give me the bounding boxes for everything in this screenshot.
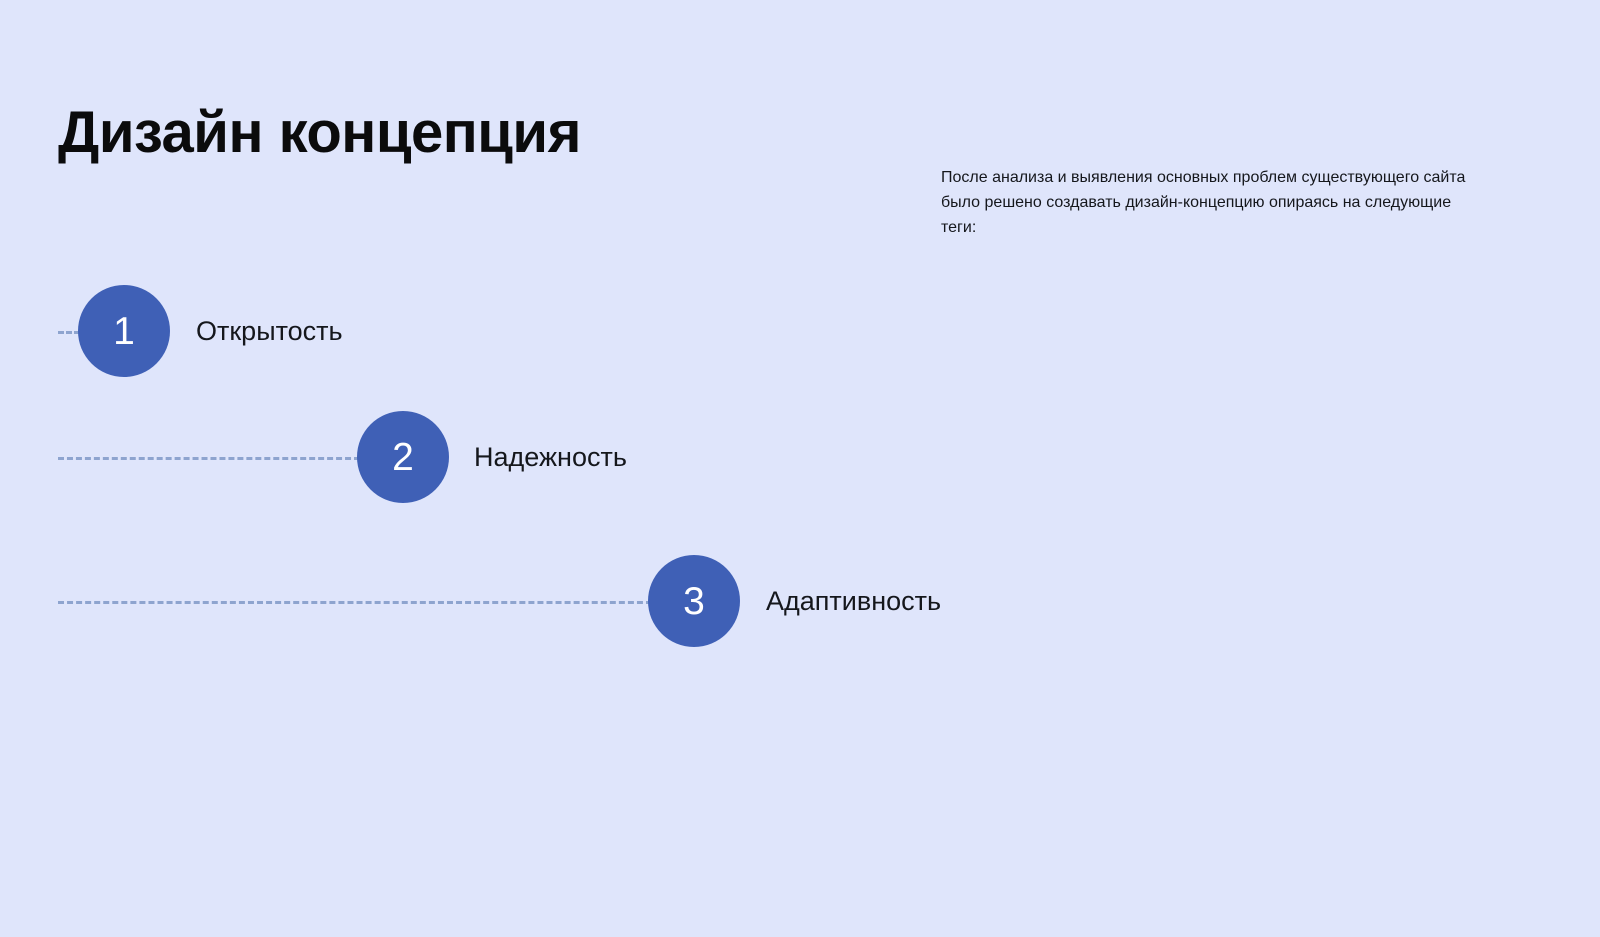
connector-line-3 — [58, 601, 652, 604]
connector-line-2 — [58, 457, 360, 460]
step-label-3: Адаптивность — [766, 583, 941, 619]
step-label-1: Открытость — [196, 313, 343, 349]
step-badge-2: 2 — [357, 411, 449, 503]
design-concept-slide: Дизайн концепция После анализа и выявлен… — [0, 0, 1600, 937]
step-label-2: Надежность — [474, 439, 627, 475]
step-badge-3: 3 — [648, 555, 740, 647]
step-badge-1: 1 — [78, 285, 170, 377]
connector-line-1 — [58, 331, 80, 334]
steps-list: 1 Открытость 2 Надежность 3 Адаптивность — [0, 0, 1600, 937]
